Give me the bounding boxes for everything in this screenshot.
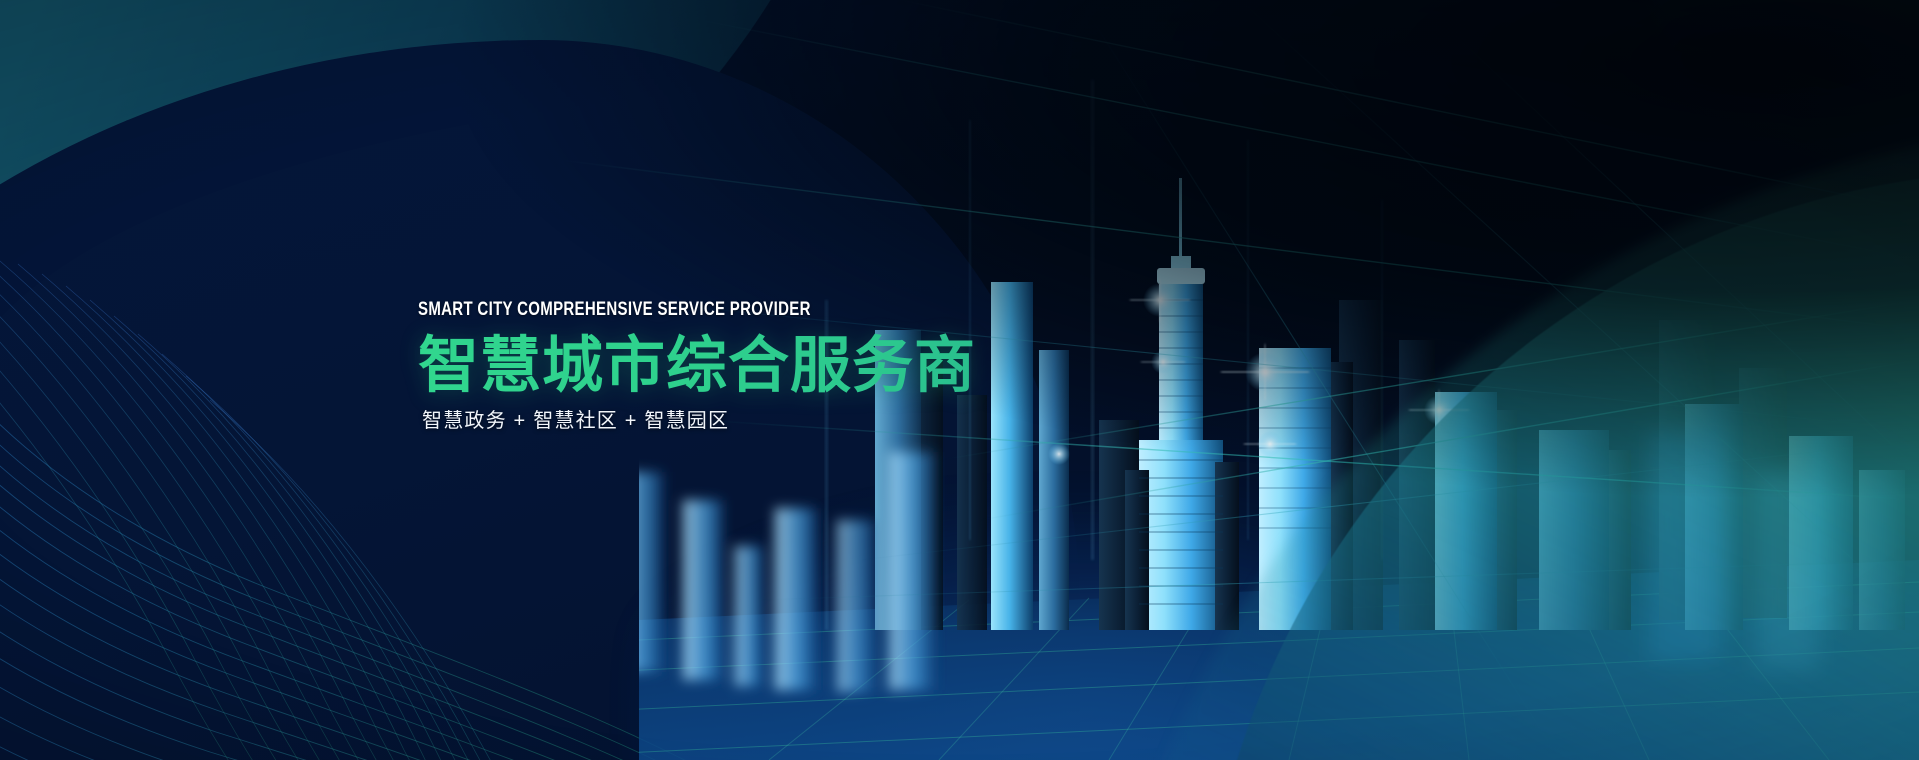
hero-subline: 智慧政务 + 智慧社区 + 智慧园区 xyxy=(422,411,1178,431)
hero-headline: 智慧城市综合服务商 xyxy=(418,333,1178,399)
left-line-wave-ribbon xyxy=(0,190,740,760)
hero-copy: SMART CITY COMPREHENSIVE SERVICE PROVIDE… xyxy=(418,300,1178,431)
smart-city-hero-banner: SMART CITY COMPREHENSIVE SERVICE PROVIDE… xyxy=(0,0,1919,760)
foreground-blur-bars xyxy=(639,452,935,692)
hero-tagline: SMART CITY COMPREHENSIVE SERVICE PROVIDE… xyxy=(418,300,1018,319)
